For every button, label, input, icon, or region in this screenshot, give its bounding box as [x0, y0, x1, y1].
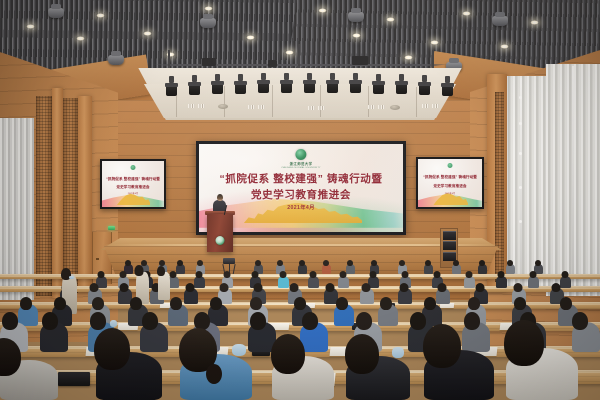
attendee-head	[120, 271, 127, 278]
attendee-head	[371, 260, 377, 266]
attendee-head	[210, 297, 222, 310]
stage-light-icon	[327, 80, 338, 93]
soffit-vent	[368, 105, 375, 109]
standing-attendee-head	[135, 265, 144, 276]
stage-light-icon	[350, 80, 361, 93]
soffit-vent	[378, 105, 385, 109]
ceiling-spotlight-icon	[48, 8, 64, 18]
soffit-seam	[224, 86, 225, 117]
attendee-head	[514, 297, 526, 310]
attendee-head	[280, 271, 287, 278]
side-monitor-right-title-1: “抓院促系 整校建强” 铸魂行动暨	[418, 175, 482, 180]
standing-attendee-head	[157, 266, 165, 276]
attendee-head	[423, 324, 461, 368]
soffit-vent	[188, 104, 195, 108]
university-emblem-icon	[296, 149, 307, 160]
side-monitor-left: “抓院促系 整校建强” 铸魂行动暨 党史学习教育推进会 2021年4月	[100, 159, 166, 209]
attendee-head	[271, 334, 305, 374]
downlight-icon	[204, 6, 213, 11]
attendee-head	[362, 283, 371, 292]
stage-light-icon	[166, 83, 177, 96]
acoustic-pilaster-right	[495, 92, 504, 282]
stage-light-icon	[442, 83, 453, 96]
attendee-head	[535, 260, 541, 266]
attendee-head	[380, 297, 392, 310]
soffit-vent	[432, 104, 439, 108]
downlight-icon	[143, 31, 152, 36]
window-light-dot	[519, 122, 522, 125]
soffit-vent	[258, 105, 265, 109]
attendee-head	[464, 312, 480, 330]
speaker-head	[217, 194, 223, 201]
soffit-seam	[416, 87, 417, 117]
attendee-head	[90, 283, 99, 292]
attendee-head	[302, 312, 318, 330]
podium-emblem-icon	[216, 236, 225, 245]
attendee-head	[552, 283, 561, 292]
ceiling-spotlight-icon	[492, 16, 508, 26]
face-mask	[392, 347, 404, 358]
attendee-head	[54, 297, 66, 310]
face-mask	[110, 320, 117, 327]
rig-equipment-box	[268, 60, 277, 67]
attendee-head	[220, 283, 229, 292]
attendee-head	[323, 260, 329, 266]
downlight-icon	[285, 50, 294, 55]
attendee-head	[252, 271, 259, 278]
stage-light-icon	[396, 81, 407, 94]
exit-sign-icon	[108, 226, 115, 230]
attendee-head	[356, 312, 372, 330]
downlight-icon	[500, 44, 509, 49]
attendee-head	[402, 271, 409, 278]
soffit-vent	[318, 106, 325, 110]
rig-equipment-box	[202, 58, 216, 66]
side-monitor-left-content: “抓院促系 整校建强” 铸魂行动暨 党史学习教育推进会 2021年4月	[102, 161, 164, 207]
attendee-head	[277, 260, 283, 266]
rig-rod	[298, 44, 300, 68]
attendee-head	[170, 271, 177, 278]
control-panel-cell	[443, 231, 456, 240]
desk-notebook	[58, 372, 90, 386]
attendee-head	[130, 297, 142, 310]
attendee-head	[345, 334, 379, 374]
attendee-head	[125, 260, 131, 266]
lighting-rig-pipe	[146, 64, 454, 66]
screen-title-line-2: 党史学习教育推进会	[199, 187, 403, 202]
attendee-head	[294, 297, 306, 310]
attendee-head	[572, 312, 588, 330]
rig-rod	[168, 50, 170, 68]
stage-light-icon	[212, 81, 223, 94]
attendee-hair-tie	[206, 364, 222, 384]
attendee-head	[92, 297, 104, 310]
soffit-seam	[320, 85, 321, 117]
stage-light-icon	[258, 80, 269, 93]
window-light-dot	[519, 220, 522, 223]
attendee-head	[400, 283, 409, 292]
lecture-hall-photo: 浙江师范大学 ZHEJIANG NORMAL UNIVERSITY “抓院促系 …	[0, 0, 600, 400]
attendee-head	[434, 271, 441, 278]
ceiling-spotlight-icon	[348, 12, 364, 22]
stage-light-icon	[189, 82, 200, 95]
window-light-dot	[519, 152, 522, 155]
downlight-icon	[76, 36, 85, 41]
attendee-head	[20, 297, 32, 310]
stage-light-icon	[235, 81, 246, 94]
ceiling-speaker-icon	[218, 104, 228, 109]
attendee-head	[197, 260, 203, 266]
attendee-head	[42, 312, 58, 330]
attendee-head	[336, 297, 348, 310]
attendee-head	[255, 260, 261, 266]
audience-area	[0, 258, 600, 400]
control-panel-cell	[443, 241, 456, 250]
attendee-head	[530, 271, 537, 278]
attendee-head	[177, 260, 183, 266]
downlight-icon	[430, 40, 439, 45]
window-light-dot	[519, 186, 522, 189]
attendee-head	[299, 260, 305, 266]
side-monitor-left-title-1: “抓院促系 整校建强” 铸魂行动暨	[102, 177, 164, 182]
downlight-icon	[26, 24, 35, 29]
stage-light-icon	[373, 81, 384, 94]
attendee-head	[453, 260, 459, 266]
soffit-seam	[368, 86, 369, 117]
side-monitor-left-date: 2021年4月	[102, 191, 164, 195]
attendee-head	[326, 283, 335, 292]
face-mask	[232, 344, 246, 356]
ceiling-spotlight-icon	[200, 18, 216, 28]
attendee-head	[141, 260, 147, 266]
soffit-vent	[248, 105, 255, 109]
soffit-vent	[422, 104, 429, 108]
stage-light-icon	[281, 80, 292, 93]
university-name-en: ZHEJIANG NORMAL UNIVERSITY	[281, 167, 320, 169]
standing-attendee	[158, 272, 170, 300]
attendee-head	[514, 283, 523, 292]
attendee-head	[186, 283, 195, 292]
attendee-head	[438, 283, 447, 292]
downlight-icon	[530, 20, 539, 25]
side-monitor-left-emblem-icon	[131, 165, 136, 170]
attendee-head	[347, 260, 353, 266]
attendee-head	[224, 271, 231, 278]
face-mask	[69, 276, 74, 279]
attendee-head	[340, 271, 347, 278]
attendee-head	[94, 328, 130, 370]
downlight-icon	[462, 11, 471, 16]
attendee-head	[250, 312, 266, 330]
attendee-head	[90, 312, 106, 330]
attendee-head	[290, 283, 299, 292]
downlight-icon	[352, 33, 361, 38]
attendee-head	[466, 271, 473, 278]
side-monitor-right-title-2: 党史学习教育推进会	[418, 184, 482, 189]
soffit-vent	[308, 106, 315, 110]
screen-date-line: 2021年4月	[199, 204, 403, 211]
attendee-head	[196, 271, 203, 278]
attendee-head	[479, 260, 485, 266]
downlight-icon	[96, 13, 105, 18]
desk-row	[0, 274, 600, 279]
side-monitor-right-date: 2021年4月	[418, 191, 482, 195]
attendee-head	[370, 271, 377, 278]
attendee-head	[504, 320, 544, 366]
downlight-icon	[386, 17, 395, 22]
screen-title-line-1: “抓院促系 整校建强” 铸魂行动暨	[199, 171, 403, 186]
attendee-head	[310, 271, 317, 278]
attendee-head	[476, 283, 485, 292]
stage-light-icon	[304, 80, 315, 93]
university-name: 浙江师范大学	[290, 161, 313, 166]
screen-university-logo: 浙江师范大学 ZHEJIANG NORMAL UNIVERSITY	[281, 149, 320, 169]
soffit-vent	[198, 104, 205, 108]
window-mullion	[520, 78, 522, 286]
attendee-head	[250, 297, 262, 310]
ceiling-spotlight-icon	[108, 55, 124, 65]
soffit-seam	[272, 85, 273, 117]
downlight-icon	[246, 35, 255, 40]
attendee-head	[254, 283, 263, 292]
attendee-head	[120, 283, 129, 292]
attendee-head	[507, 260, 513, 266]
attendee-head	[170, 297, 182, 310]
side-monitor-left-title-2: 党史学习教育推进会	[102, 185, 164, 190]
attendee-head	[410, 312, 426, 330]
downlight-icon	[318, 8, 327, 13]
attendee-head	[425, 260, 431, 266]
attendee-head	[468, 297, 480, 310]
attendee-head	[98, 271, 105, 278]
rig-equipment-box	[352, 56, 368, 65]
attendee-head	[399, 260, 405, 266]
ceiling-speaker-icon	[390, 105, 400, 110]
attendee-head	[560, 297, 572, 310]
attendee-head	[424, 297, 436, 310]
downlight-icon	[404, 55, 413, 60]
side-monitor-right-content: “抓院促系 整校建强” 铸魂行动暨 党史学习教育推进会 2021年4月	[418, 159, 482, 207]
side-monitor-right: “抓院促系 整校建强” 铸魂行动暨 党史学习教育推进会 2021年4月	[416, 157, 484, 209]
attendee-head	[142, 312, 158, 330]
rig-rod	[432, 50, 434, 68]
window-light-dot	[519, 96, 522, 99]
podium	[207, 214, 233, 252]
attendee-head	[498, 271, 505, 278]
attendee-head	[562, 271, 569, 278]
attendee-head	[2, 312, 18, 330]
side-monitor-right-emblem-icon	[448, 163, 453, 168]
stage-light-icon	[419, 82, 430, 95]
